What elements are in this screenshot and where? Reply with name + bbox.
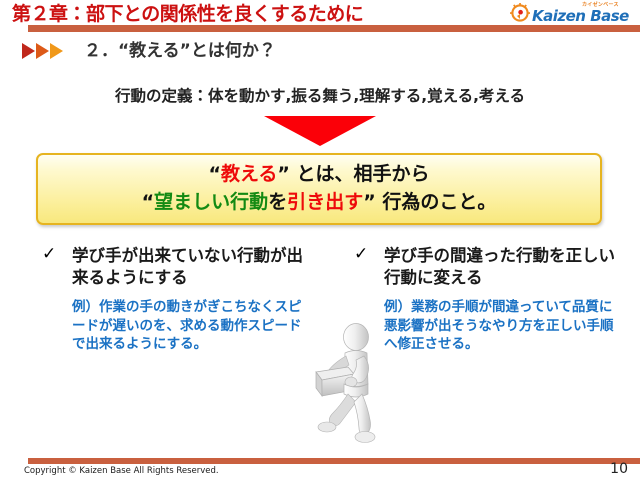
footer-divider-bar xyxy=(28,458,640,464)
logo-wordmark: Kaizen Base xyxy=(532,7,629,25)
copyright-text: Copyright © Kaizen Base All Rights Reser… xyxy=(24,466,219,476)
column-left-example: 例）作業の手の動きがぎこちなくスピードが遅いのを、求める動作スピードで出来るよう… xyxy=(36,298,308,354)
list-item: ✓ 学び手の間違った行動を正しい行動に変える xyxy=(348,245,620,289)
callout-l1-seg-1: 教える xyxy=(221,163,277,185)
person-carrying-box-icon xyxy=(296,322,394,444)
down-triangle-icon xyxy=(264,116,376,146)
checkmark-icon: ✓ xyxy=(354,246,368,263)
definition-callout-box: “教える” とは、相手から “望ましい行動を引き出す” 行為のこと。 xyxy=(36,153,602,225)
slide-header: 第２章：部下との関係性を良くするために xyxy=(0,0,640,34)
callout-line-1: “教える” とは、相手から xyxy=(208,161,429,189)
callout-l2-seg-2: を xyxy=(268,191,287,213)
page-title: 第２章：部下との関係性を良くするために xyxy=(12,0,363,26)
page-number: 10 xyxy=(610,461,628,477)
callout-line-2: “望ましい行動を引き出す” 行為のこと。 xyxy=(142,189,497,217)
section-heading-label: ２．“教える”とは何か？ xyxy=(84,36,276,61)
checkmark-icon: ✓ xyxy=(42,246,56,263)
list-item: ✓ 学び手が出来ていない行動が出来るようにする xyxy=(36,245,308,289)
column-left-heading: 学び手が出来ていない行動が出来るようにする xyxy=(72,245,308,289)
callout-l2-seg-0: “ xyxy=(142,191,155,213)
column-left: ✓ 学び手が出来ていない行動が出来るようにする 例）作業の手の動きがぎこちなくス… xyxy=(36,245,308,354)
callout-l2-seg-3: 引き出す xyxy=(287,191,363,213)
callout-l2-seg-1: 望ましい行動 xyxy=(154,191,268,213)
kaizen-sun-icon xyxy=(510,3,530,23)
slide: 第２章：部下との関係性を良くするために xyxy=(0,0,640,480)
kaizen-base-logo: カイゼンベース Kaizen Base xyxy=(504,1,636,27)
triple-chevron-icon xyxy=(22,42,80,60)
column-right-heading: 学び手の間違った行動を正しい行動に変える xyxy=(384,245,620,289)
callout-l1-seg-0: “ xyxy=(208,163,221,185)
behavior-definition-text: 行動の定義：体を動かす,振る舞う,理解する,覚える,考える xyxy=(0,84,640,106)
callout-l2-seg-4: ” 行為のこと。 xyxy=(363,191,496,213)
callout-l1-seg-2: ” とは、相手から xyxy=(277,163,429,185)
